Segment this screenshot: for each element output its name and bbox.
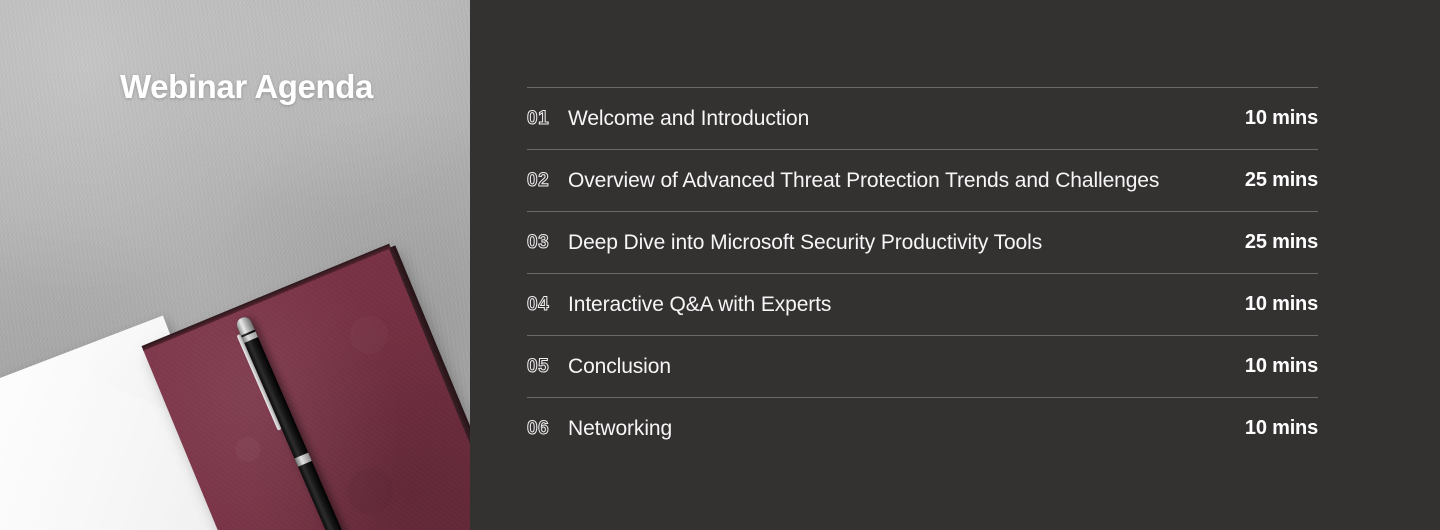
webinar-agenda-slide: Webinar Agenda 01 Welcome and Introducti… (0, 0, 1440, 530)
agenda-item-number: 04 (527, 295, 568, 314)
agenda-item-label: Deep Dive into Microsoft Security Produc… (568, 231, 1233, 255)
agenda-item-duration: 25 mins (1233, 169, 1318, 192)
agenda-row: 04 Interactive Q&A with Experts 10 mins (527, 273, 1318, 335)
agenda-row: 05 Conclusion 10 mins (527, 335, 1318, 397)
hero-photo-panel: Webinar Agenda (0, 0, 470, 530)
agenda-item-number: 05 (527, 357, 568, 376)
agenda-item-duration: 10 mins (1233, 417, 1318, 440)
agenda-item-number: 06 (527, 419, 568, 438)
agenda-item-label: Networking (568, 417, 1233, 441)
agenda-panel: 01 Welcome and Introduction 10 mins 02 O… (470, 0, 1440, 530)
agenda-item-label: Interactive Q&A with Experts (568, 293, 1233, 317)
agenda-item-number: 01 (527, 109, 568, 128)
agenda-list: 01 Welcome and Introduction 10 mins 02 O… (527, 87, 1318, 459)
agenda-item-duration: 10 mins (1233, 107, 1318, 130)
agenda-item-label: Conclusion (568, 355, 1233, 379)
agenda-item-number: 02 (527, 171, 568, 190)
agenda-row: 02 Overview of Advanced Threat Protectio… (527, 149, 1318, 211)
agenda-row: 01 Welcome and Introduction 10 mins (527, 87, 1318, 149)
agenda-item-label: Welcome and Introduction (568, 107, 1233, 131)
agenda-row: 03 Deep Dive into Microsoft Security Pro… (527, 211, 1318, 273)
agenda-item-number: 03 (527, 233, 568, 252)
agenda-item-label: Overview of Advanced Threat Protection T… (568, 169, 1233, 193)
agenda-item-duration: 10 mins (1233, 355, 1318, 378)
agenda-item-duration: 10 mins (1233, 293, 1318, 316)
agenda-row: 06 Networking 10 mins (527, 397, 1318, 459)
agenda-item-duration: 25 mins (1233, 231, 1318, 254)
page-title: Webinar Agenda (120, 68, 373, 106)
pen-mid-band (294, 453, 311, 467)
